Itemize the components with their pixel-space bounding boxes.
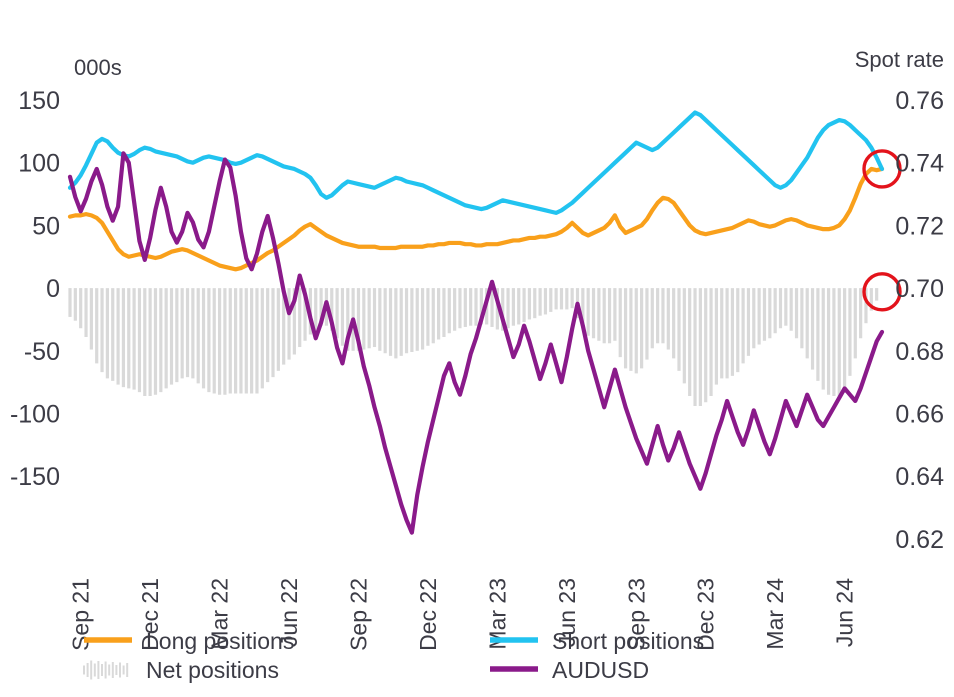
left-axis-tick: -50 (24, 338, 60, 366)
legend-label: Short positions (552, 628, 704, 654)
legend-label: Net positions (146, 657, 279, 683)
legend-label: AUDUSD (552, 657, 649, 683)
x-axis-tick: Sep 22 (346, 578, 372, 651)
right-axis-tick: 0.74 (895, 150, 944, 178)
left-axis-tick: 150 (18, 87, 60, 115)
chart-root: 150100500-50-100-150 0.760.740.720.700.6… (0, 0, 954, 697)
right-axis-tick: 0.64 (895, 463, 944, 491)
left-axis-tick: -100 (10, 401, 60, 429)
left-axis-tick: -150 (10, 463, 60, 491)
legend: Long positionsNet positionsShort positio… (84, 628, 704, 683)
right-axis-label: Spot rate (855, 47, 944, 72)
series-line-short-positions (70, 113, 882, 213)
right-axis-ticks: 0.760.740.720.700.680.660.640.62 (895, 87, 944, 554)
left-axis-tick: 0 (46, 275, 60, 303)
left-axis-tick: 50 (32, 212, 60, 240)
right-axis-tick: 0.62 (895, 526, 944, 554)
right-axis-tick: 0.70 (895, 275, 944, 303)
right-axis-tick: 0.68 (895, 338, 944, 366)
left-axis-ticks: 150100500-50-100-150 (10, 87, 60, 491)
x-axis-tick: Mar 24 (762, 578, 788, 650)
chart-canvas: 150100500-50-100-150 0.760.740.720.700.6… (0, 0, 954, 697)
right-axis-tick: 0.72 (895, 212, 944, 240)
x-axis-tick: Dec 22 (415, 578, 441, 651)
legend-label: Long positions (146, 628, 294, 654)
net-positions-bars (70, 288, 882, 406)
x-axis-tick: Jun 24 (832, 578, 858, 647)
left-axis-label: 000s (74, 55, 122, 80)
right-axis-tick: 0.66 (895, 401, 944, 429)
left-axis-tick: 100 (18, 150, 60, 178)
right-axis-tick: 0.76 (895, 87, 944, 115)
